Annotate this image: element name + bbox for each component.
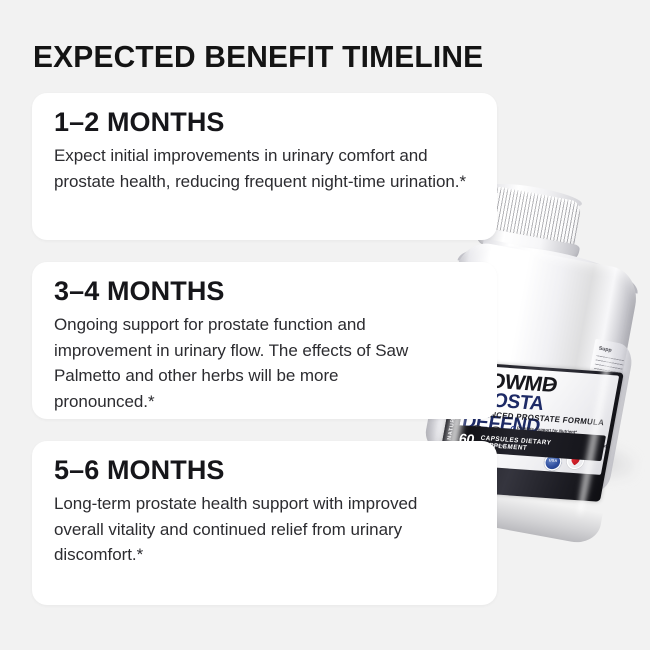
timeline-card-3-4-months: 3–4 MONTHS Ongoing support for prostate … (32, 262, 497, 419)
card-heading: 5–6 MONTHS (54, 455, 225, 485)
product-benefit-infographic: EXPECTED BENEFIT TIMELINE Supp ADVANCED … (0, 0, 650, 650)
card-body-text: Long-term prostate health support with i… (54, 491, 468, 568)
card-heading: 3–4 MONTHS (54, 276, 225, 306)
bottle-cap-top (489, 179, 583, 212)
supplement-facts-title: Supp (598, 346, 612, 354)
page-title: EXPECTED BENEFIT TIMELINE (33, 40, 483, 74)
timeline-card-1-2-months: 1–2 MONTHS Expect initial improvements i… (32, 93, 497, 240)
card-body-text: Expect initial improvements in urinary c… (54, 143, 466, 194)
bottle-neck (481, 239, 570, 271)
card-heading: 1–2 MONTHS (54, 107, 225, 137)
brand-logo-d: D (540, 373, 559, 398)
card-body-text: Ongoing support for prostate function an… (54, 312, 438, 414)
timeline-card-5-6-months: 5–6 MONTHS Long-term prostate health sup… (32, 441, 497, 605)
